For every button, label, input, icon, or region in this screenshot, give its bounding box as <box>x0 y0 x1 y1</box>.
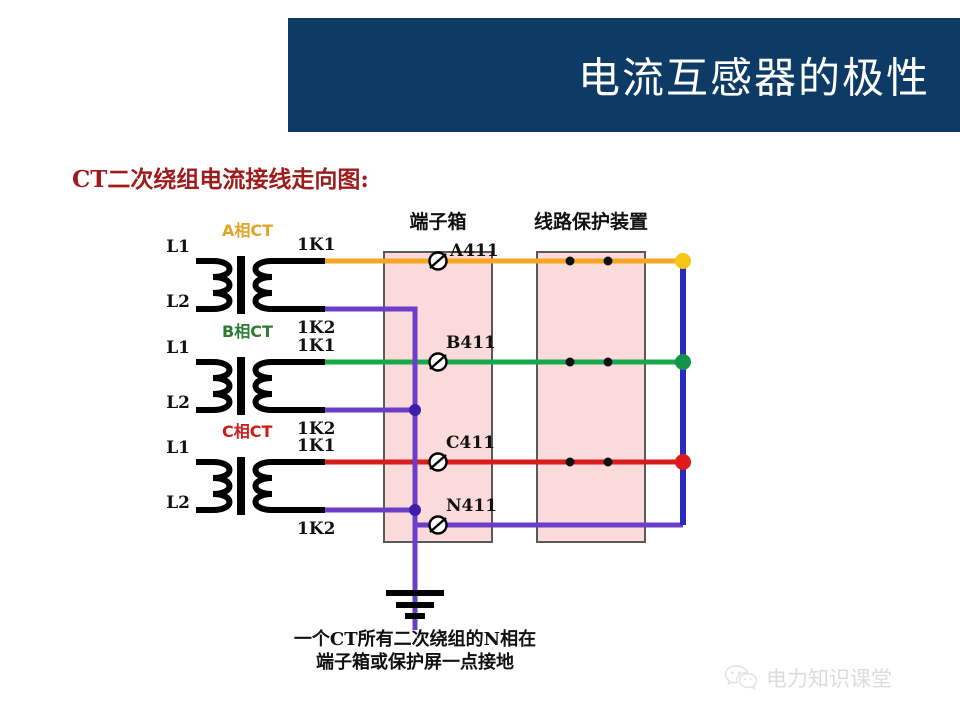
endpoint-dot-phase-c <box>675 454 691 470</box>
ground-caption-line-2: 端子箱或保护屏一点接地 <box>316 651 514 673</box>
terminal-a411-label: A411 <box>449 241 499 261</box>
ct-c-primary-coil <box>213 462 230 510</box>
terminal-b411-label: B411 <box>446 333 496 353</box>
protection-terminal-a-out[interactable] <box>604 257 613 266</box>
watermark-text: 电力知识课堂 <box>766 663 892 693</box>
ct-c-secondary-coil <box>256 462 273 510</box>
header-banner: 电流互感器的极性 <box>288 18 960 132</box>
ct-b-label-1k1: 1K1 <box>297 336 335 356</box>
ct-b-phase-label: B相CT <box>222 322 273 341</box>
ct-a-phase-label: A相CT <box>222 221 273 240</box>
ct-a-secondary-coil <box>256 261 273 309</box>
ct-b-label-l2: L2 <box>166 393 190 413</box>
protection-terminal-c-in[interactable] <box>566 458 575 467</box>
ct-c-label-1k2: 1K2 <box>297 519 335 539</box>
ct-a-label-l1: L1 <box>166 237 190 257</box>
ct-c-label-l2: L2 <box>166 493 190 513</box>
ct-b-secondary-coil <box>256 362 273 410</box>
ct-unit-a: L1 L2 A相CT 1K1 1K2 <box>166 221 335 338</box>
ct-unit-c: L1 L2 C相CT 1K1 1K2 <box>166 422 335 539</box>
ct-c-label-l1: L1 <box>166 438 190 458</box>
protection-terminal-c-out[interactable] <box>604 458 613 467</box>
ct-b-primary-coil <box>213 362 230 410</box>
protection-device-label: 线路保护装置 <box>534 210 648 233</box>
ct-a-label-1k1: 1K1 <box>297 235 335 255</box>
terminal-c411-label: C411 <box>446 433 495 453</box>
terminal-n411-label: N411 <box>446 496 497 516</box>
page-title: 电流互感器的极性 <box>578 45 930 106</box>
ct-b-label-l1: L1 <box>166 338 190 358</box>
slide-canvas: 电流互感器的极性 CT二次绕组电流接线走向图: 端子箱 线路保护装置 <box>0 0 960 720</box>
ct-a-primary-coil <box>213 261 230 309</box>
protection-terminal-b-out[interactable] <box>604 358 613 367</box>
ct-a-label-1k2: 1K2 <box>297 318 335 338</box>
protection-device-box <box>537 252 645 542</box>
ground-caption-line-1: 一个CT所有二次绕组的N相在 <box>294 628 536 650</box>
ct-wiring-diagram: 端子箱 线路保护装置 L1 L2 A相CT 1K1 1K2 <box>0 190 960 680</box>
protection-terminal-a-in[interactable] <box>566 257 575 266</box>
endpoint-dot-phase-b <box>675 354 691 370</box>
ct-a-label-l2: L2 <box>166 292 190 312</box>
diagram-subtitle: CT二次绕组电流接线走向图: <box>72 160 369 194</box>
junction-dot-neutral-b <box>409 404 421 416</box>
ct-c-phase-label: C相CT <box>222 422 272 441</box>
terminal-box-label: 端子箱 <box>409 210 466 233</box>
junction-dot-neutral-c <box>409 504 421 516</box>
endpoint-dot-phase-a <box>675 253 691 269</box>
watermark: 电力知识课堂 <box>724 663 892 693</box>
wechat-icon <box>724 664 758 692</box>
ct-c-label-1k1: 1K1 <box>297 436 335 456</box>
protection-terminal-b-in[interactable] <box>566 358 575 367</box>
